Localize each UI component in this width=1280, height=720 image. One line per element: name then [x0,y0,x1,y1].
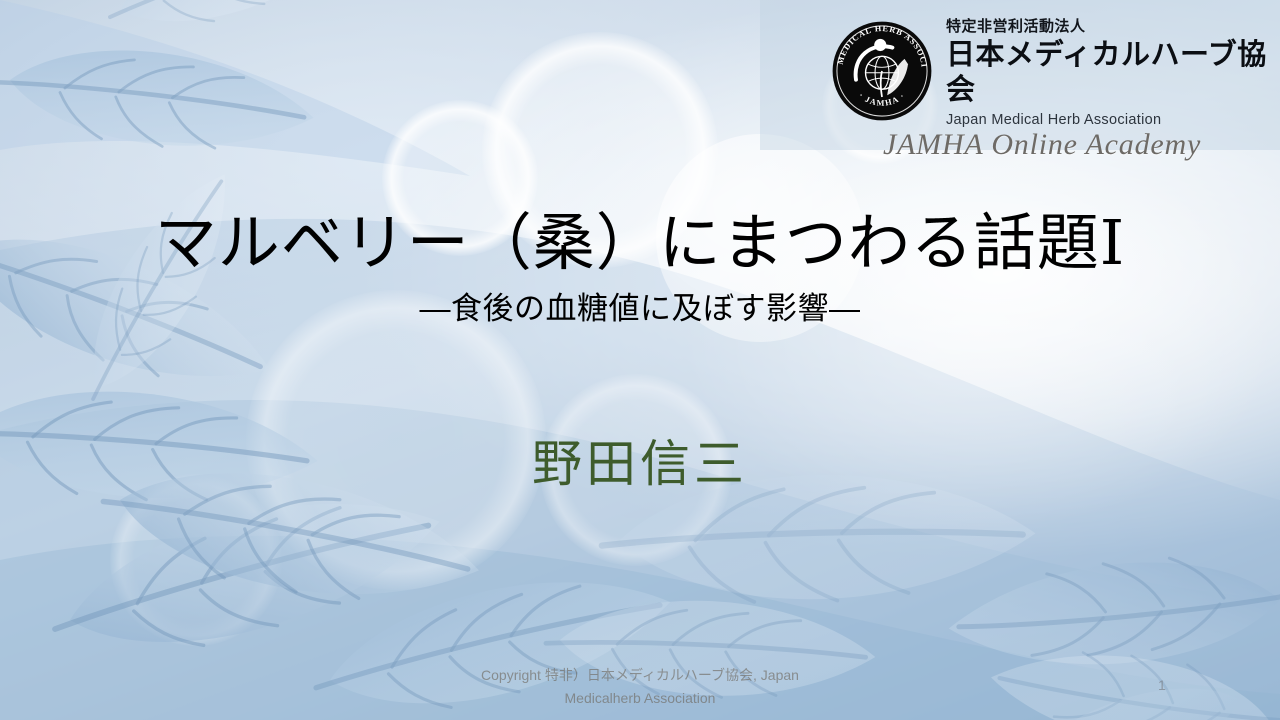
page-subtitle: ―食後の血糖値に及ぼす影響― [0,283,1280,328]
copyright-line-1: Copyright 特非）日本メディカルハーブ協会, Japan [340,664,940,687]
copyright-footer: Copyright 特非）日本メディカルハーブ協会, Japan Medical… [340,664,940,710]
org-name-en-label: Japan Medical Herb Association [946,112,1280,128]
presentation-slide: JAPAN MEDICAL HERB ASSOCIATION · JAMHA ·… [0,0,1280,720]
title-zone: マルベリー（桑）にまつわる話題Ⅰ ―食後の血糖値に及ぼす影響― [0,210,1280,328]
page-number: 1 [1158,677,1166,693]
association-name-text: 特定非営利活動法人 日本メディカルハーブ協会 Japan Medical Her… [946,14,1280,128]
copyright-line-2: Medicalherb Association [340,687,940,710]
jamha-emblem-icon: JAPAN MEDICAL HERB ASSOCIATION · JAMHA · [830,19,934,123]
academy-tagline: JAMHA Online Academy [862,128,1222,162]
org-kind-label: 特定非営利活動法人 [946,18,1280,36]
author-name: 野田信三 [0,424,1280,496]
org-name-label: 日本メディカルハーブ協会 [946,38,1280,109]
page-title: マルベリー（桑）にまつわる話題Ⅰ [0,210,1280,277]
association-logo-block: JAPAN MEDICAL HERB ASSOCIATION · JAMHA ·… [830,14,1280,128]
